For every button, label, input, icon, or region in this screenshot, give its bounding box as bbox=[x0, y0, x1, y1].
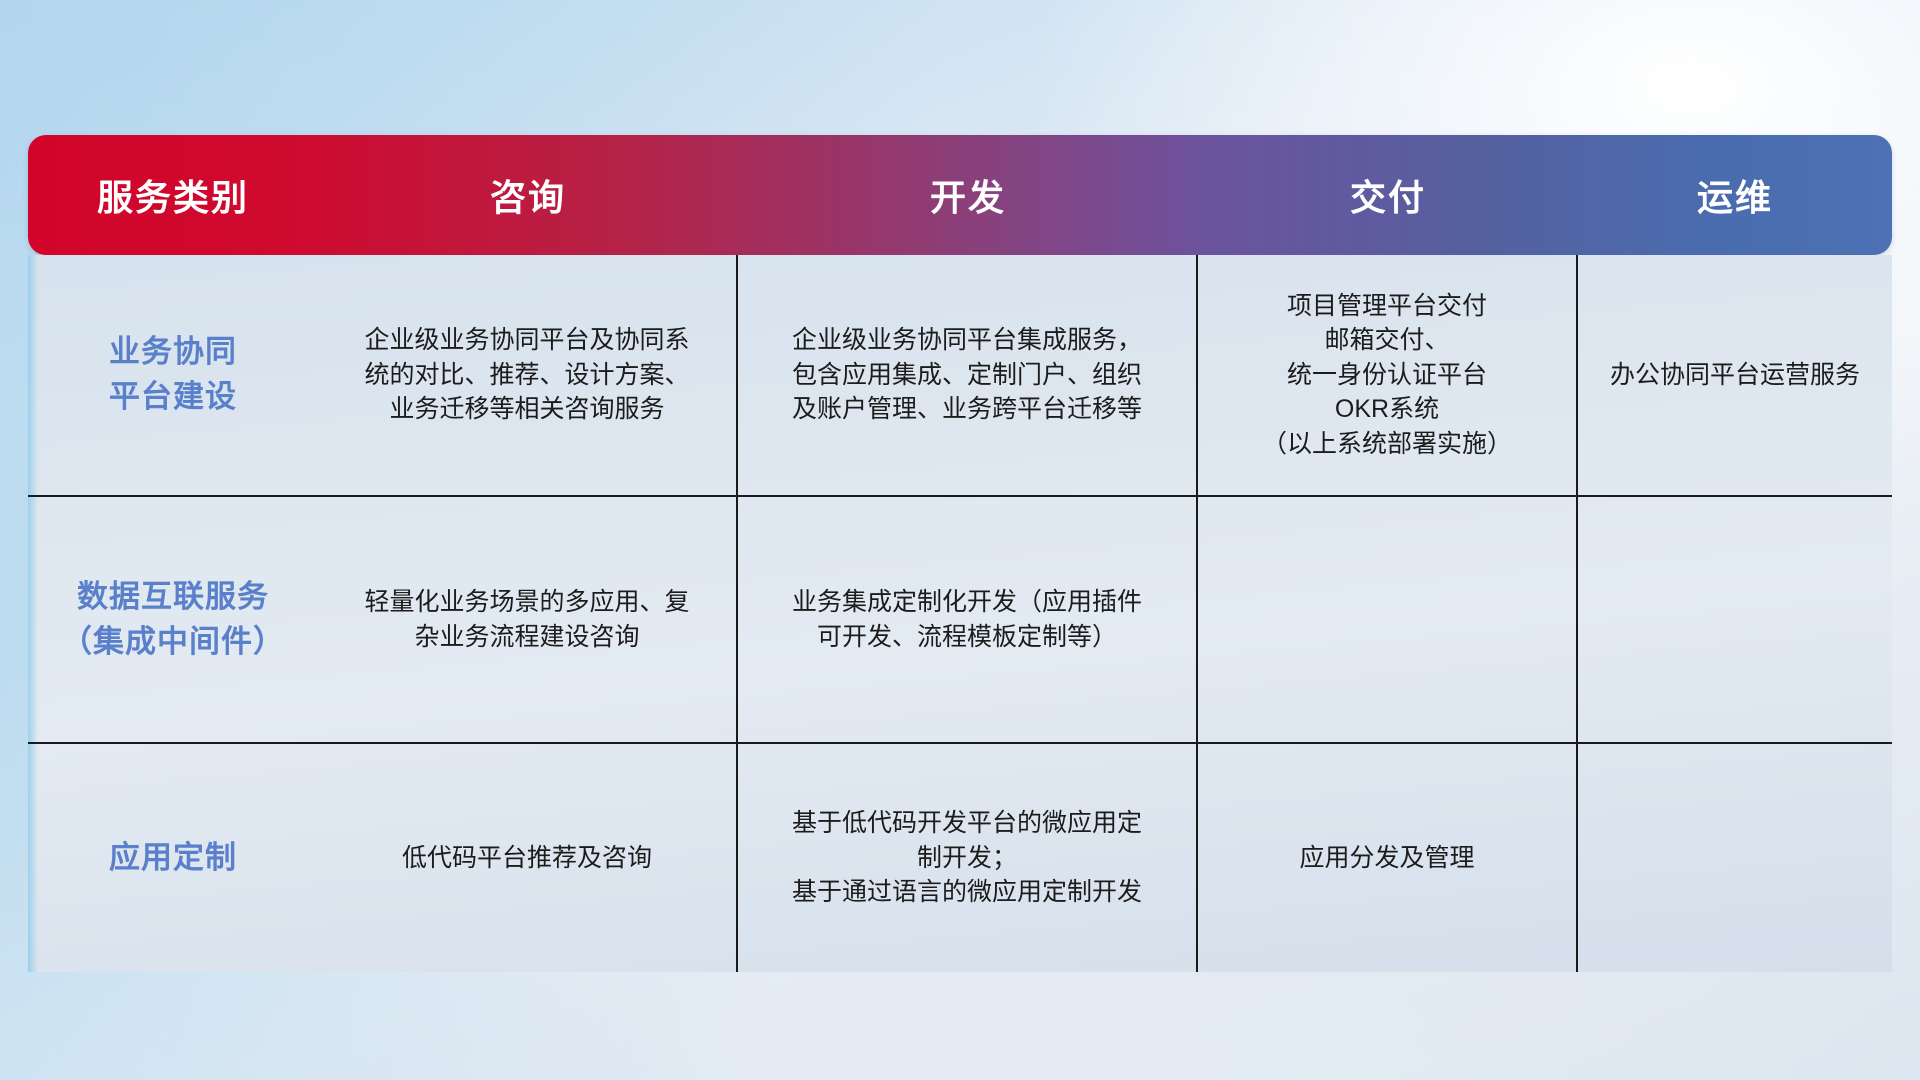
column-header-delivery: 交付 bbox=[1198, 169, 1578, 221]
row-category-label: 业务协同 平台建设 bbox=[28, 255, 318, 495]
column-header-consulting: 咨询 bbox=[318, 169, 738, 221]
table-row: 业务协同 平台建设 企业级业务协同平台及协同系 统的对比、推荐、设计方案、 业务… bbox=[28, 255, 1892, 497]
cell-delivery: 应用分发及管理 bbox=[1198, 744, 1578, 972]
cell-development: 业务集成定制化开发（应用插件 可开发、流程模板定制等） bbox=[738, 497, 1198, 742]
service-category-table: 服务类别 咨询 开发 交付 运维 业务协同 平台建设 企业级业务协同平台及协同系… bbox=[28, 135, 1892, 950]
table-body: 业务协同 平台建设 企业级业务协同平台及协同系 统的对比、推荐、设计方案、 业务… bbox=[28, 255, 1892, 972]
row-category-label: 应用定制 bbox=[28, 744, 318, 972]
table-header-row: 服务类别 咨询 开发 交付 运维 bbox=[28, 135, 1892, 255]
cell-delivery: 项目管理平台交付 邮箱交付、 统一身份认证平台 OKR系统 （以上系统部署实施） bbox=[1198, 255, 1578, 495]
cell-operations: 办公协同平台运营服务 bbox=[1578, 255, 1892, 495]
cell-consulting: 低代码平台推荐及咨询 bbox=[318, 744, 738, 972]
cell-operations bbox=[1578, 744, 1892, 972]
cell-consulting: 企业级业务协同平台及协同系 统的对比、推荐、设计方案、 业务迁移等相关咨询服务 bbox=[318, 255, 738, 495]
table-row: 应用定制 低代码平台推荐及咨询 基于低代码开发平台的微应用定 制开发； 基于通过… bbox=[28, 744, 1892, 972]
row-category-label: 数据互联服务 （集成中间件） bbox=[28, 497, 318, 742]
column-header-development: 开发 bbox=[738, 169, 1198, 221]
cell-development: 企业级业务协同平台集成服务， 包含应用集成、定制门户、组织 及账户管理、业务跨平… bbox=[738, 255, 1198, 495]
column-header-operations: 运维 bbox=[1578, 169, 1892, 221]
cell-delivery bbox=[1198, 497, 1578, 742]
cell-operations bbox=[1578, 497, 1892, 742]
cell-consulting: 轻量化业务场景的多应用、复 杂业务流程建设咨询 bbox=[318, 497, 738, 742]
column-header-service-category: 服务类别 bbox=[28, 169, 318, 221]
table-row: 数据互联服务 （集成中间件） 轻量化业务场景的多应用、复 杂业务流程建设咨询 业… bbox=[28, 497, 1892, 744]
cell-development: 基于低代码开发平台的微应用定 制开发； 基于通过语言的微应用定制开发 bbox=[738, 744, 1198, 972]
